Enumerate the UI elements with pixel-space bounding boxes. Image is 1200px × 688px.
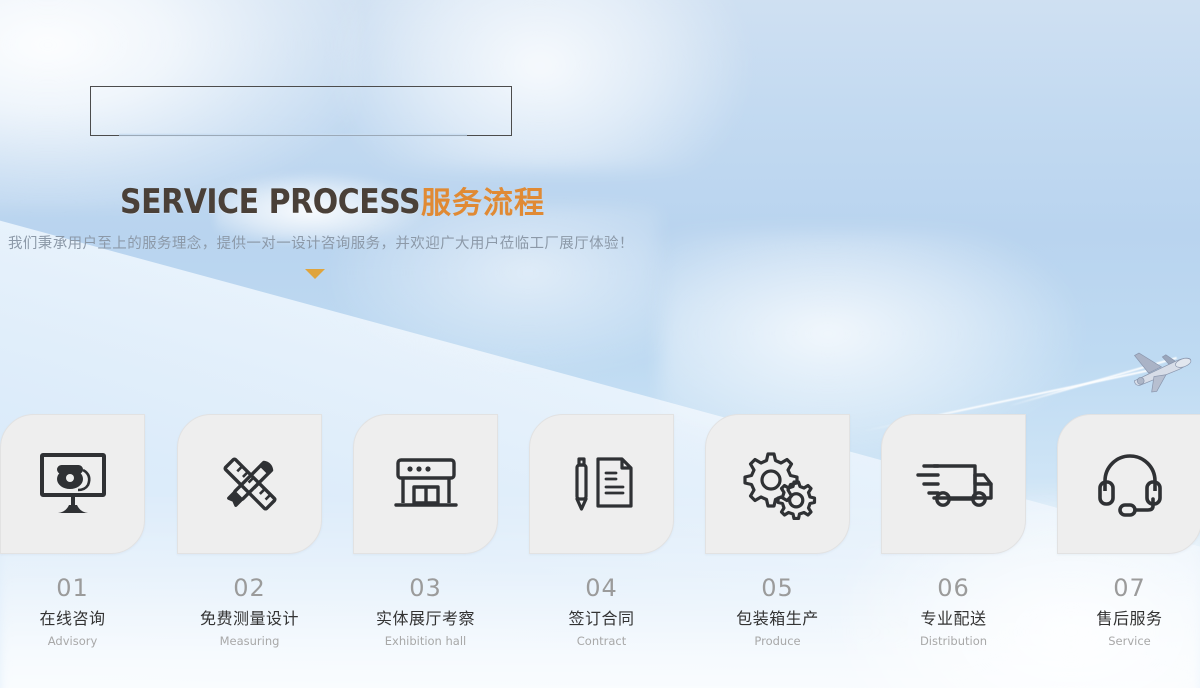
process-step-7[interactable]: 07 售后服务 Service — [1057, 414, 1200, 648]
step-card-2[interactable] — [177, 414, 322, 554]
step-card-7[interactable] — [1057, 414, 1200, 554]
step-label-cn: 实体展厅考察 — [353, 611, 498, 627]
service-process-banner: SERVICE PROCESS服务流程 我们秉承用户至上的服务理念，提供一对一设… — [0, 0, 1200, 688]
delivery-truck-icon — [912, 453, 996, 515]
page-title-en: SERVICE PROCESS — [120, 185, 420, 219]
step-card-5[interactable] — [705, 414, 850, 554]
step-label-en: Exhibition hall — [353, 636, 498, 648]
process-step-3[interactable]: 03 实体展厅考察 Exhibition hall — [353, 414, 498, 648]
step-number: 06 — [881, 576, 1026, 600]
process-steps: 01 在线咨询 Advisory — [0, 414, 1200, 664]
step-label-cn: 免费测量设计 — [177, 611, 322, 627]
monitor-phone-icon — [36, 449, 110, 519]
process-step-6[interactable]: 06 专业配送 Distribution — [881, 414, 1026, 648]
page-title-cn: 服务流程 — [421, 186, 545, 221]
step-label-cn: 售后服务 — [1057, 611, 1200, 627]
title-frame-border — [90, 86, 512, 136]
step-card-6[interactable] — [881, 414, 1026, 554]
process-step-5[interactable]: 05 包装箱生产 Produce — [705, 414, 850, 648]
step-label-cn: 在线咨询 — [0, 611, 145, 627]
step-card-1[interactable] — [0, 414, 145, 554]
step-label-en: Advisory — [0, 636, 145, 648]
step-number: 07 — [1057, 576, 1200, 600]
step-number: 04 — [529, 576, 674, 600]
step-card-3[interactable] — [353, 414, 498, 554]
page-subtitle: 我们秉承用户至上的服务理念，提供一对一设计咨询服务，并欢迎广大用户莅临工厂展厅体… — [8, 232, 634, 253]
headset-icon — [1093, 449, 1167, 519]
step-label-en: Contract — [529, 636, 674, 648]
step-label-en: Distribution — [881, 636, 1026, 648]
step-card-4[interactable] — [529, 414, 674, 554]
process-step-4[interactable]: 04 签订合同 Contract — [529, 414, 674, 648]
step-number: 05 — [705, 576, 850, 600]
step-label-cn: 包装箱生产 — [705, 611, 850, 627]
cloud-wisp-center — [330, 205, 660, 375]
step-number: 01 — [0, 576, 145, 600]
step-label-en: Produce — [705, 636, 850, 648]
process-step-1[interactable]: 01 在线咨询 Advisory — [0, 414, 145, 648]
airplane-icon — [1118, 336, 1200, 402]
ruler-pencil-icon — [213, 449, 287, 519]
step-label-cn: 专业配送 — [881, 611, 1026, 627]
step-label-en: Measuring — [177, 636, 322, 648]
process-step-2[interactable]: 02 免费测量设计 Measuring — [177, 414, 322, 648]
step-number: 02 — [177, 576, 322, 600]
step-label-cn: 签订合同 — [529, 611, 674, 627]
step-label-en: Service — [1057, 636, 1200, 648]
cloud-top-middle — [330, 0, 750, 170]
step-number: 03 — [353, 576, 498, 600]
page-title: SERVICE PROCESS服务流程 — [120, 185, 545, 219]
chevron-down-icon — [305, 269, 325, 279]
gears-icon — [739, 448, 817, 520]
storefront-icon — [389, 449, 463, 519]
pen-document-icon — [565, 449, 639, 519]
